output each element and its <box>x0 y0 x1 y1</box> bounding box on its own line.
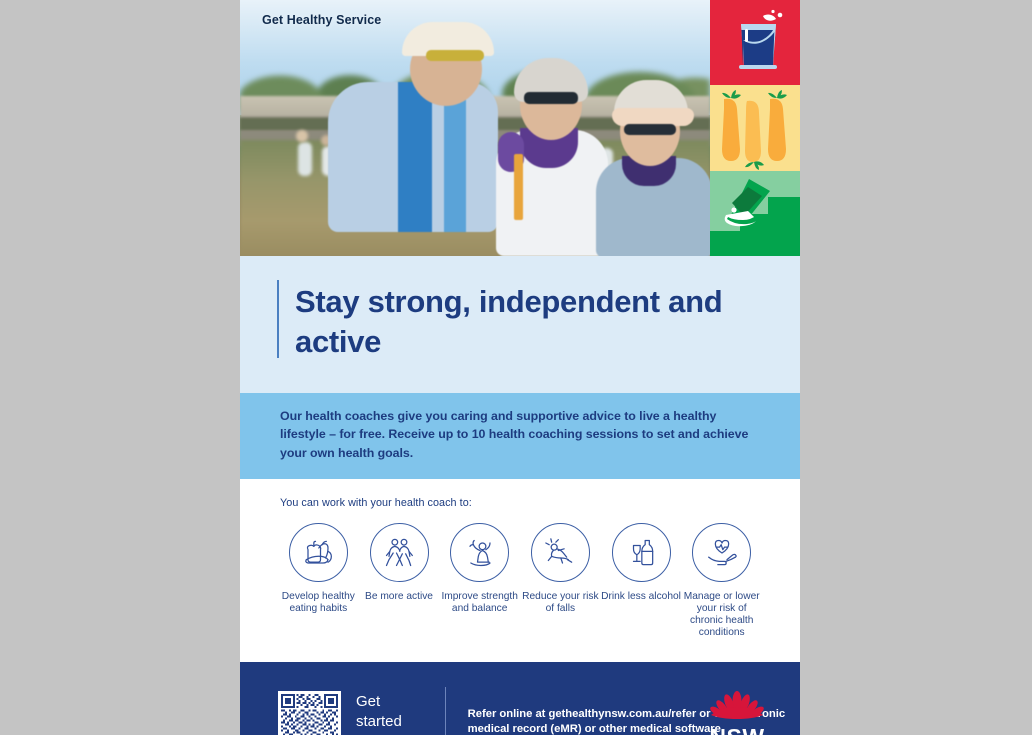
benefit-item: Drink less alcohol <box>601 523 682 639</box>
screenshot-canvas: Get Healthy Service <box>0 0 1032 735</box>
hero-photograph <box>240 0 710 256</box>
benefit-item: Develop healthy eating habits <box>278 523 359 639</box>
hero-service-label: Get Healthy Service <box>262 13 381 27</box>
qr-code-graphic <box>281 694 338 735</box>
headline-accent-rule <box>277 280 279 358</box>
photo-person-stripe <box>444 90 466 232</box>
photo-background-player <box>298 142 312 176</box>
footer-section: Get started today Refer online at gethea… <box>240 662 800 735</box>
hero-icon-strip <box>710 0 800 256</box>
benefit-icon-ring <box>612 523 671 582</box>
shoe-stairs-icon <box>710 171 800 256</box>
wine-bottle-glass-icon <box>621 533 661 573</box>
headline-band: Stay strong, independent and active <box>240 256 800 393</box>
benefit-icon-ring <box>450 523 509 582</box>
nsw-wordmark: NSW <box>701 726 773 735</box>
water-glass-icon <box>710 0 800 85</box>
hero-section: Get Healthy Service <box>240 0 800 256</box>
intro-paragraph: Our health coaches give you caring and s… <box>280 407 760 464</box>
benefits-row: Develop healthy eating habits <box>278 523 762 639</box>
vegetables-icon <box>298 533 338 573</box>
stretching-person-icon <box>460 533 500 573</box>
benefit-item: Reduce your risk of falls <box>520 523 601 639</box>
carrots-icon <box>710 85 800 170</box>
coach-lead-text: You can work with your health coach to: <box>280 497 800 509</box>
benefit-item: Improve strength and balance <box>439 523 520 639</box>
intro-band: Our health coaches give you caring and s… <box>240 393 800 480</box>
benefit-icon-ring <box>531 523 590 582</box>
benefit-label: Reduce your risk of falls <box>520 591 601 615</box>
photo-person-woman-right <box>592 72 710 256</box>
falling-person-icon <box>540 533 580 573</box>
photo-person-sunglasses <box>426 50 484 61</box>
benefit-icon-ring <box>692 523 751 582</box>
page-title: Stay strong, independent and active <box>240 282 800 363</box>
benefit-icon-ring <box>370 523 429 582</box>
benefit-label: Develop healthy eating habits <box>278 591 359 615</box>
get-started-label: Get started today <box>356 692 423 735</box>
benefit-label: Manage or lower your risk of chronic hea… <box>681 591 762 639</box>
qr-code[interactable] <box>278 691 341 735</box>
hero-panel-activity <box>710 171 800 256</box>
waratah-icon <box>708 689 766 719</box>
benefit-item: Be more active <box>359 523 440 639</box>
photo-person-sunglasses <box>624 124 676 135</box>
photo-background-player <box>296 130 308 142</box>
photo-person-lanyard <box>514 154 523 220</box>
benefit-label: Be more active <box>359 591 440 603</box>
photo-person-stripe <box>398 82 432 232</box>
hero-panel-vegetables <box>710 85 800 170</box>
walking-people-icon <box>379 533 419 573</box>
benefit-label: Drink less alcohol <box>601 591 682 603</box>
benefit-icon-ring <box>289 523 348 582</box>
hero-panel-water <box>710 0 800 85</box>
flyer-document: Get Healthy Service <box>240 0 800 735</box>
benefit-label: Improve strength and balance <box>439 591 520 615</box>
coach-benefits-section: You can work with your health coach to: <box>240 479 800 662</box>
footer-divider <box>445 687 446 735</box>
nsw-government-logo: NSW GOVERNMENT <box>701 689 773 735</box>
photo-person-sunglasses <box>524 92 578 104</box>
heart-in-hand-icon <box>702 533 742 573</box>
benefit-item: Manage or lower your risk of chronic hea… <box>681 523 762 639</box>
